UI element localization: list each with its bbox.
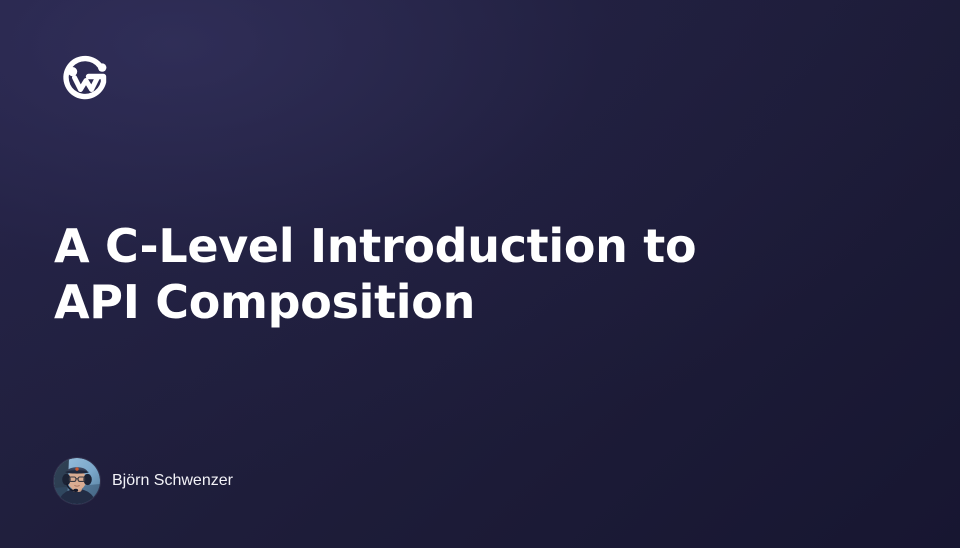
author-avatar-photo [54,458,100,504]
avatar [54,458,100,504]
author-name: Björn Schwenzer [112,471,233,491]
brand-logo[interactable] [60,52,112,104]
author-row: Björn Schwenzer [54,458,233,504]
gw-brand-logo-icon [60,52,112,104]
title-block: A C-Level Introduction to API Compositio… [54,218,794,330]
page-title: A C-Level Introduction to API Compositio… [54,218,714,330]
presentation-slide: A C-Level Introduction to API Compositio… [0,0,960,548]
